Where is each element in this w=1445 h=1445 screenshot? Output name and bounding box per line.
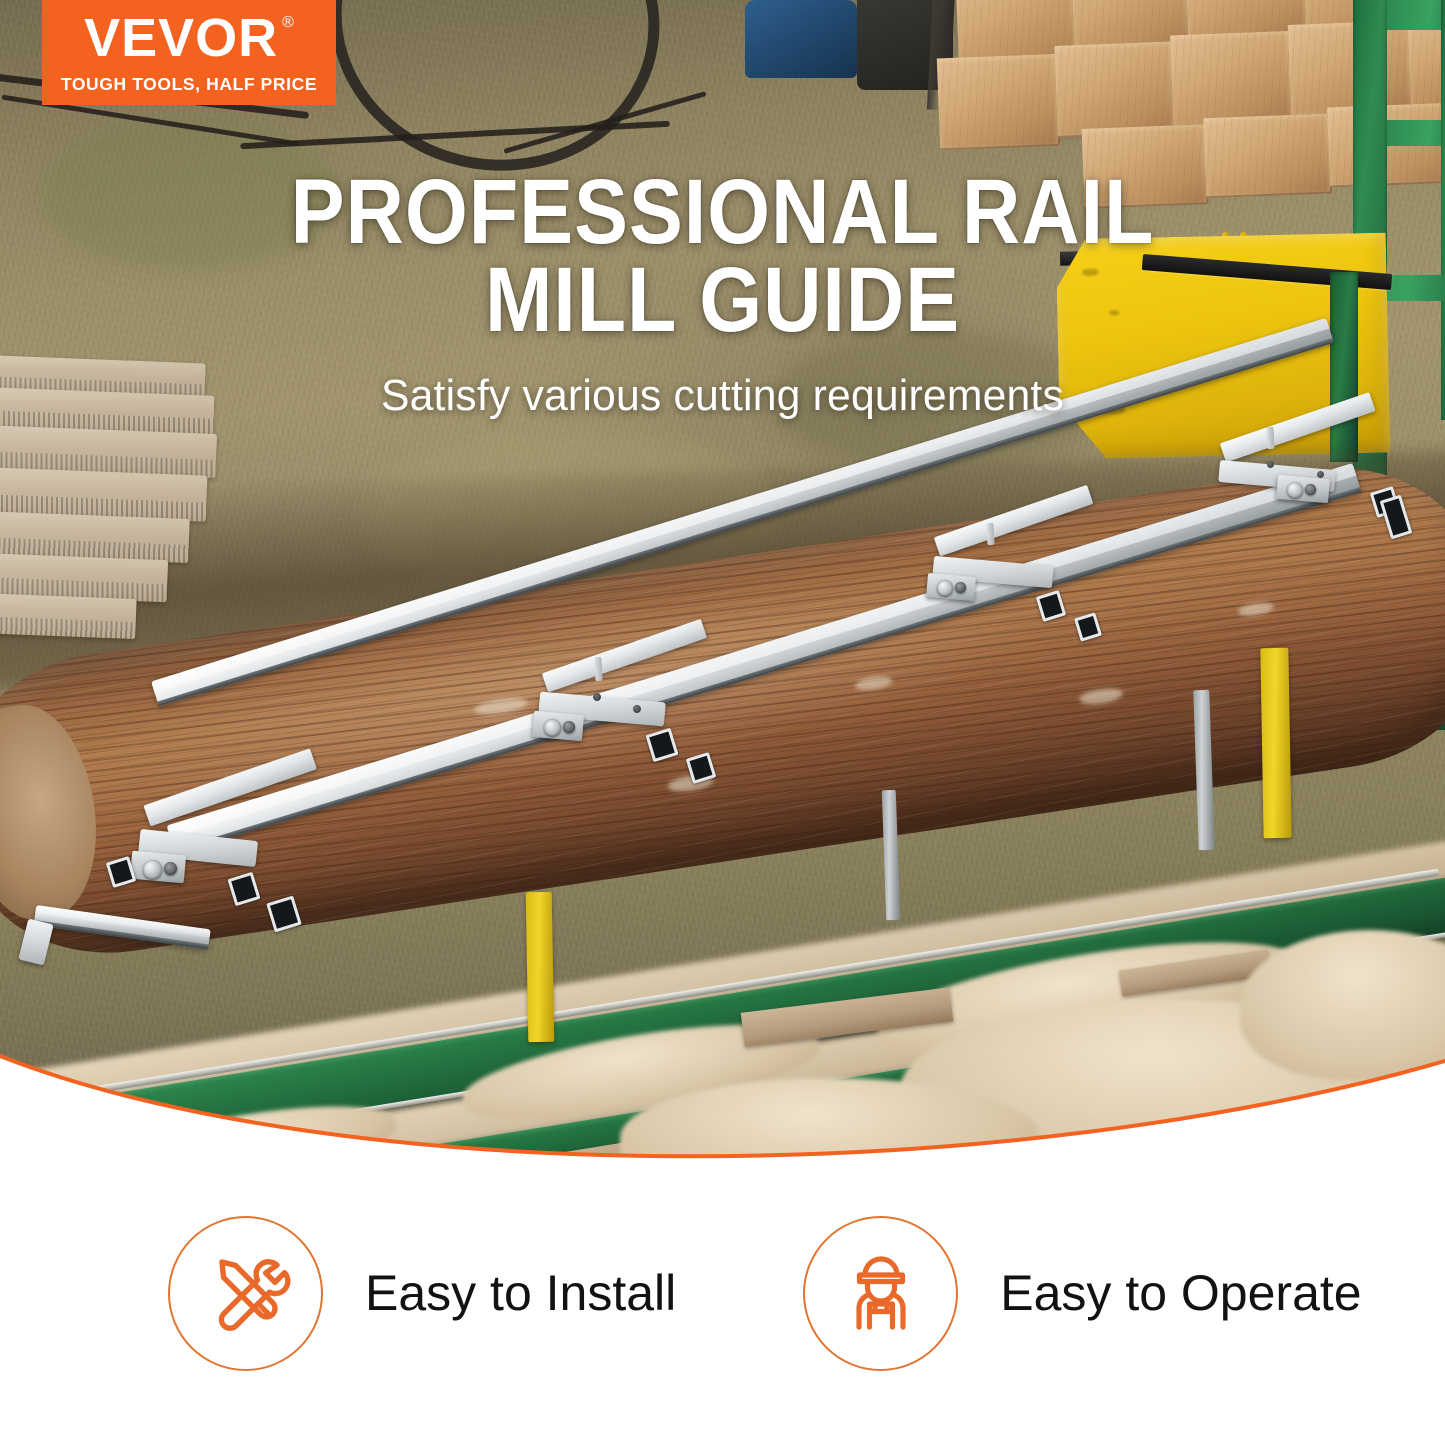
- feature-icon-circle: [168, 1216, 323, 1371]
- headline-line-2: MILL GUIDE: [87, 256, 1359, 344]
- feature-label: Easy to Operate: [1000, 1264, 1361, 1322]
- logo-wordmark: VEVOR: [84, 11, 278, 65]
- wrench-screwdriver-icon: [198, 1245, 294, 1341]
- feature-icon-circle: [803, 1216, 958, 1371]
- subheadline: Satisfy various cutting requirements: [22, 371, 1424, 421]
- logo-wordmark-row: VEVOR ®: [84, 11, 294, 65]
- headline-line-1: PROFESSIONAL RAIL: [87, 168, 1359, 256]
- feature-badges: Easy to Install: [0, 1203, 1445, 1383]
- feature-label: Easy to Install: [365, 1264, 676, 1322]
- yellow-support-post: [526, 892, 555, 1042]
- yellow-support-post: [1260, 648, 1291, 838]
- blue-barrel: [745, 0, 857, 78]
- vevor-logo: VEVOR ® TOUGH TOOLS, HALF PRICE: [42, 0, 336, 105]
- feature-easy-to-operate: Easy to Operate: [803, 1203, 1361, 1383]
- logo-tagline: TOUGH TOOLS, HALF PRICE: [61, 74, 317, 95]
- hero-text-block: PROFESSIONAL RAIL MILL GUIDE Satisfy var…: [0, 168, 1445, 421]
- feature-easy-to-install: Easy to Install: [168, 1203, 676, 1383]
- product-marketing-banner: PROFESSIONAL RAIL MILL GUIDE Satisfy var…: [0, 0, 1445, 1445]
- registered-trademark-icon: ®: [282, 15, 294, 31]
- worker-hardhat-icon: [835, 1247, 927, 1339]
